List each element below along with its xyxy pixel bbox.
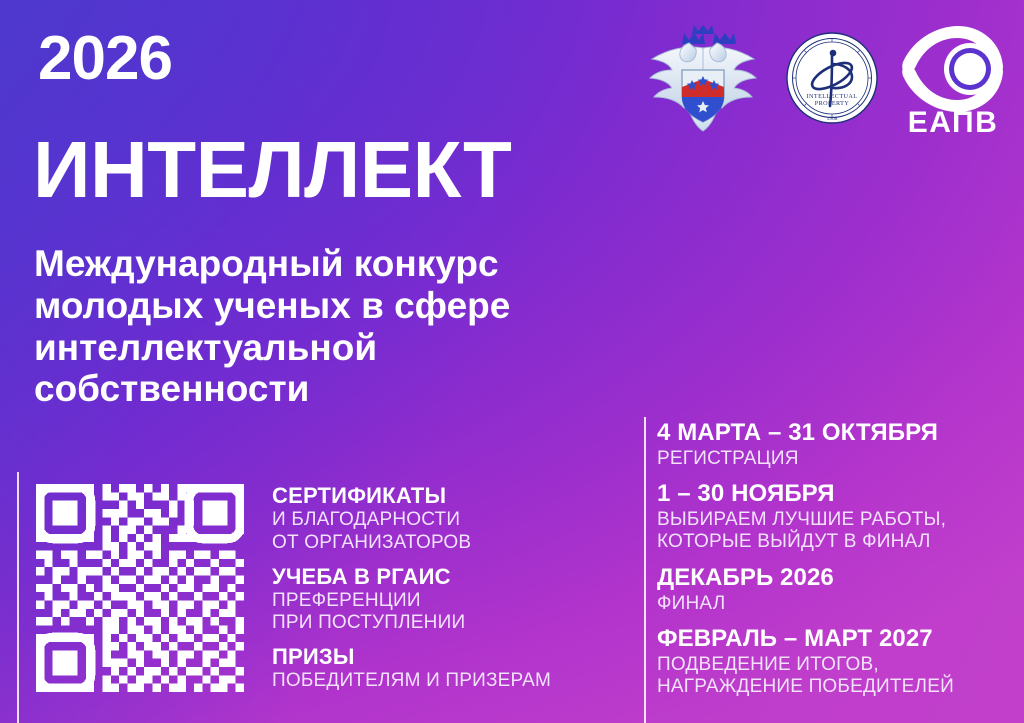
page-title: ИНТЕЛЛЕКТ [33,133,511,207]
benefit-description: ПОБЕДИТЕЛЯМ И ПРИЗЕРАМ [272,670,602,693]
svg-text:1968: 1968 [827,116,838,122]
schedule-description: РЕГИСТРАЦИЯ [657,448,1012,470]
schedule-item: ФЕВРАЛЬ – МАРТ 2027 ПОДВЕДЕНИЕ ИТОГОВ, Н… [657,625,1012,699]
benefit-item: УЧЕБА В РГАИС ПРЕФЕРЕНЦИИ ПРИ ПОСТУПЛЕНИ… [272,564,602,636]
divider-middle [644,417,646,723]
schedule-description: ФИНАЛ [657,593,1012,615]
benefit-heading: УЧЕБА В РГАИС [272,564,602,590]
benefit-line: ПОБЕДИТЕЛЯМ И ПРИЗЕРАМ [272,670,602,693]
schedule-line: ПОДВЕДЕНИЕ ИТОГОВ, [657,654,1012,676]
schedule-line: КОТОРЫЕ ВЫЙДУТ В ФИНАЛ [657,531,1012,553]
benefits-list: СЕРТИФИКАТЫ И БЛАГОДАРНОСТИ ОТ ОРГАНИЗАТ… [272,483,602,693]
poster-subtitle: Международный конкурс молодых ученых в с… [34,243,654,410]
schedule-list: 4 МАРТА – 31 ОКТЯБРЯ РЕГИСТРАЦИЯ 1 – 30 … [657,419,1012,699]
rgais-seal-logo: INTELLECTUAL PROPERTY 1968 [786,32,878,129]
eapv-wordmark: ЕАПВ [908,106,999,134]
svg-text:INTELLECTUAL: INTELLECTUAL [807,93,858,100]
eapv-logo: ЕАПВ [900,22,1006,139]
benefit-description: ПРЕФЕРЕНЦИИ ПРИ ПОСТУПЛЕНИИ [272,590,602,636]
benefit-line: ПРИ ПОСТУПЛЕНИИ [272,612,602,635]
schedule-period: ДЕКАБРЬ 2026 [657,564,1012,593]
schedule-period: ФЕВРАЛЬ – МАРТ 2027 [657,625,1012,654]
schedule-period: 1 – 30 НОЯБРЯ [657,480,1012,509]
schedule-line: ВЫБИРАЕМ ЛУЧШИЕ РАБОТЫ, [657,509,1012,531]
poster-root: 2026 ИНТЕЛЛЕКТ Международный конкурс мол… [0,0,1024,723]
benefit-line: ПРЕФЕРЕНЦИИ [272,590,602,613]
poster-year: 2026 [38,28,172,90]
svg-text:PROPERTY: PROPERTY [815,100,850,107]
schedule-line: НАГРАЖДЕНИЕ ПОБЕДИТЕЛЕЙ [657,676,1012,698]
schedule-item: ДЕКАБРЬ 2026 ФИНАЛ [657,564,1012,615]
benefit-item: СЕРТИФИКАТЫ И БЛАГОДАРНОСТИ ОТ ОРГАНИЗАТ… [272,483,602,555]
schedule-item: 1 – 30 НОЯБРЯ ВЫБИРАЕМ ЛУЧШИЕ РАБОТЫ, КО… [657,480,1012,554]
divider-left [17,472,19,723]
benefit-item: ПРИЗЫ ПОБЕДИТЕЛЯМ И ПРИЗЕРАМ [272,644,602,693]
schedule-line: РЕГИСТРАЦИЯ [657,448,1012,470]
benefit-line: ОТ ОРГАНИЗАТОРОВ [272,532,602,555]
benefit-heading: СЕРТИФИКАТЫ [272,483,602,509]
benefit-description: И БЛАГОДАРНОСТИ ОТ ОРГАНИЗАТОРОВ [272,509,602,555]
schedule-description: ПОДВЕДЕНИЕ ИТОГОВ, НАГРАЖДЕНИЕ ПОБЕДИТЕЛ… [657,654,1012,699]
logo-row: INTELLECTUAL PROPERTY 1968 ЕАПВ [642,22,1006,139]
schedule-period: 4 МАРТА – 31 ОКТЯБРЯ [657,419,1012,448]
rospatent-eagle-logo [642,23,764,138]
registration-qr-code[interactable] [36,484,244,692]
benefit-line: И БЛАГОДАРНОСТИ [272,509,602,532]
schedule-line: ФИНАЛ [657,593,1012,615]
schedule-item: 4 МАРТА – 31 ОКТЯБРЯ РЕГИСТРАЦИЯ [657,419,1012,470]
schedule-description: ВЫБИРАЕМ ЛУЧШИЕ РАБОТЫ, КОТОРЫЕ ВЫЙДУТ В… [657,509,1012,554]
benefit-heading: ПРИЗЫ [272,644,602,670]
